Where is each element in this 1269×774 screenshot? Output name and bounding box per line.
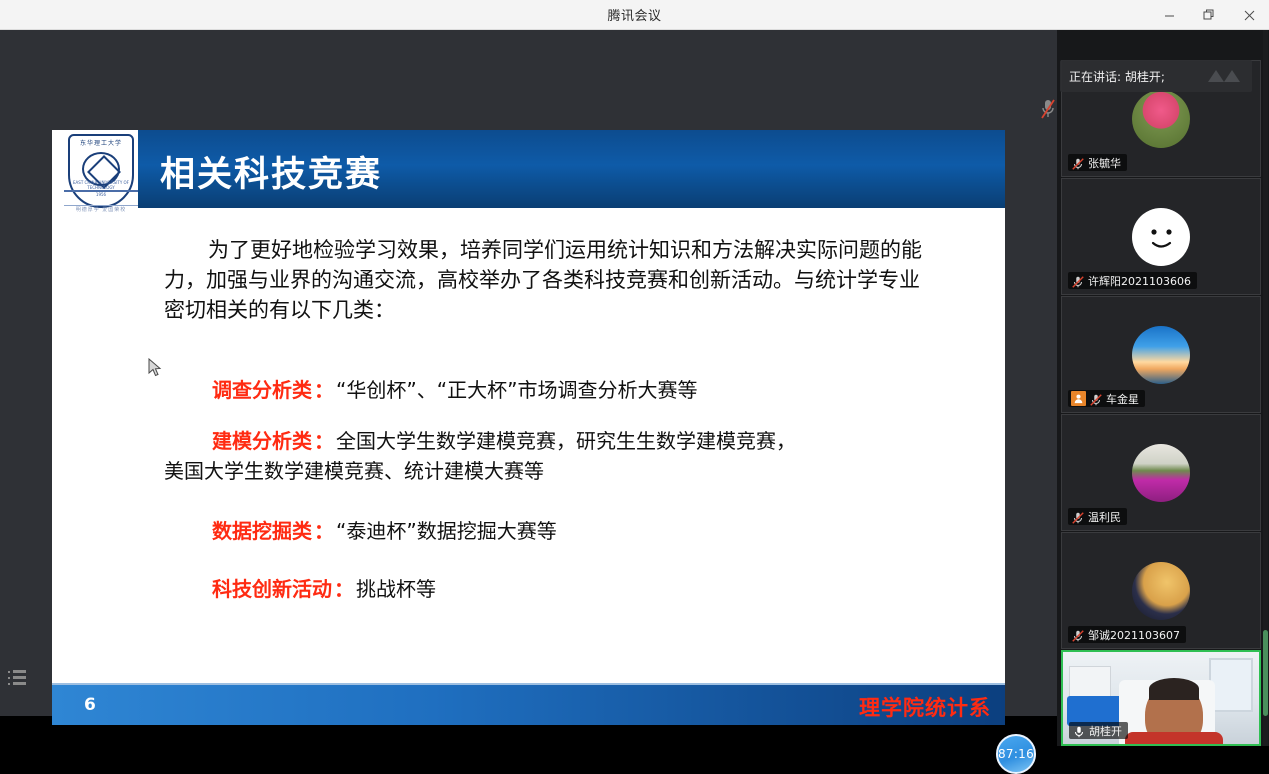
video-bg-window (1209, 658, 1253, 712)
avatar (1132, 326, 1190, 384)
avatar (1132, 562, 1190, 620)
participant-tile-active-speaker[interactable]: 胡桂开 (1061, 650, 1261, 746)
participant-name: 张毓华 (1088, 155, 1121, 171)
speaker-hair (1149, 678, 1199, 700)
slide-header: 东华理工大学 EAST CHINA UNIVERSITY OF TECHNOLO… (52, 130, 1005, 212)
speaking-now-text: 正在讲话: 胡桂开; (1069, 68, 1165, 85)
shared-screen-area[interactable]: 东华理工大学 EAST CHINA UNIVERSITY OF TECHNOLO… (0, 30, 1057, 716)
bullet-text-0: “华创杯”、“正大杯”市场调查分析大赛等 (336, 378, 697, 402)
slide-title: 相关科技竞赛 (160, 146, 382, 197)
bullet-category-2: 数据挖掘类 (212, 519, 312, 543)
muted-mic-icon (1071, 274, 1085, 288)
participant-tile[interactable]: 许辉阳2021103606 (1061, 178, 1261, 295)
avatar (1132, 90, 1190, 148)
participant-tile[interactable]: 邹诚2021103607 (1061, 532, 1261, 649)
smiley-face-icon (1132, 208, 1190, 266)
slide-body-paragraph: 为了更好地检验学习效果，培养同学们运用统计知识和方法解决实际问题的能力，加强与业… (164, 235, 924, 325)
window-controls (1149, 0, 1269, 30)
bullet-sep-1: ： (314, 429, 334, 453)
participant-name-bar: 胡桂开 (1069, 722, 1128, 739)
slide-department-label: 理学院统计系 (859, 692, 991, 722)
active-mic-icon (1072, 724, 1086, 738)
university-crest-logo: 东华理工大学 EAST CHINA UNIVERSITY OF TECHNOLO… (62, 132, 140, 220)
participant-name: 车金星 (1106, 391, 1139, 407)
meeting-timer-badge[interactable]: 87:16 (996, 734, 1036, 774)
minimize-button[interactable] (1149, 0, 1189, 30)
rail-scrollbar-thumb[interactable] (1263, 630, 1268, 716)
restore-button[interactable] (1189, 0, 1229, 30)
bullet-text-3: 挑战杯等 (356, 577, 436, 601)
speaking-now-banner: 正在讲话: 胡桂开; (1060, 60, 1252, 92)
window-title-bar: 腾讯会议 (0, 0, 1269, 30)
participant-name: 胡桂开 (1089, 723, 1122, 739)
slide-footer: 6 理学院统计系 (52, 683, 1005, 725)
participant-tile[interactable]: 温利民 (1061, 414, 1261, 531)
participant-name-bar: 张毓华 (1068, 154, 1127, 171)
participant-name-bar: 邹诚2021103607 (1068, 626, 1186, 643)
slide-bullet-2: 数据挖掘类：“泰迪杯”数据挖掘大赛等 (164, 516, 954, 546)
slide-bullet-3: 科技创新活动：挑战杯等 (164, 574, 954, 604)
participant-name-bar: 温利民 (1068, 508, 1127, 525)
bullet-text-2: “泰迪杯”数据挖掘大赛等 (336, 519, 557, 543)
muted-mic-icon (1071, 156, 1085, 170)
participant-name: 许辉阳2021103606 (1088, 273, 1191, 289)
bullet-category-3: 科技创新活动 (212, 577, 332, 601)
chevron-collapse-icon[interactable] (1204, 66, 1244, 86)
speaker-shirt (1125, 732, 1223, 746)
crest-motto: 明德厚学 爱国荣校 (62, 206, 140, 213)
app-title: 腾讯会议 (607, 5, 661, 24)
muted-mic-icon (1071, 510, 1085, 524)
close-button[interactable] (1229, 0, 1269, 30)
crest-en-name: EAST CHINA UNIVERSITY OF TECHNOLOGY (62, 180, 140, 190)
crest-cn-name: 东华理工大学 (62, 138, 140, 147)
bullet-continuation-1: 美国大学生数学建模竞赛、统计建模大赛等 (164, 456, 954, 486)
avatar (1132, 208, 1190, 266)
muted-mic-icon (1040, 98, 1056, 120)
participant-name-bar: 许辉阳2021103606 (1068, 272, 1197, 289)
timer-value: 87:16 (998, 747, 1034, 761)
participant-tile[interactable]: 车金星 (1061, 296, 1261, 413)
participant-name: 温利民 (1088, 509, 1121, 525)
muted-mic-icon (1089, 392, 1103, 406)
list-view-icon[interactable] (8, 670, 26, 686)
participant-name-bar: 车金星 (1068, 390, 1145, 407)
bullet-sep-3: ： (334, 577, 354, 601)
bullet-text-1: 全国大学生数学建模竞赛，研究生生数学建模竞赛， (336, 429, 796, 453)
bullet-category-1: 建模分析类 (212, 429, 312, 453)
participant-name: 邹诚2021103607 (1088, 627, 1180, 643)
host-badge-icon (1071, 391, 1086, 406)
avatar (1132, 444, 1190, 502)
slide-bullet-0: 调查分析类：“华创杯”、“正大杯”市场调查分析大赛等 (164, 375, 954, 405)
meeting-stage: 东华理工大学 EAST CHINA UNIVERSITY OF TECHNOLO… (0, 30, 1057, 746)
presentation-slide: 东华理工大学 EAST CHINA UNIVERSITY OF TECHNOLO… (52, 130, 1005, 725)
bullet-sep-0: ： (314, 378, 334, 402)
slide-bullet-1: 建模分析类：全国大学生数学建模竞赛，研究生生数学建模竞赛， 美国大学生数学建模竞… (164, 426, 954, 486)
mouse-cursor (148, 358, 162, 378)
muted-mic-icon (1071, 628, 1085, 642)
bullet-category-0: 调查分析类 (212, 378, 312, 402)
slide-page-number: 6 (84, 695, 96, 715)
bullet-sep-2: ： (314, 519, 334, 543)
